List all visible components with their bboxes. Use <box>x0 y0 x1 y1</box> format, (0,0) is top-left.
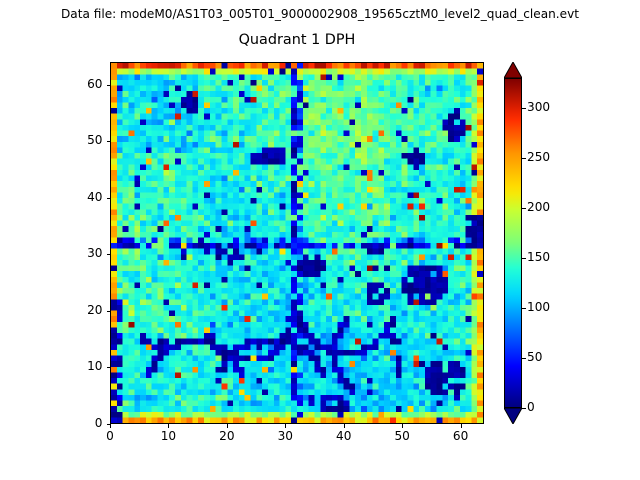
colorbar[interactable] <box>504 62 522 424</box>
colorbar-tick-mark <box>522 108 526 109</box>
colorbar-tick-label: 0 <box>527 401 571 414</box>
y-tick-mark <box>107 141 111 142</box>
colorbar-tick-mark <box>522 258 526 259</box>
x-tick-mark <box>110 424 111 428</box>
colorbar-tick-label: 50 <box>527 351 571 364</box>
data-file-suptitle: Data file: modeM0/AS1T03_005T01_90000029… <box>0 7 640 21</box>
y-tick-mark <box>107 198 111 199</box>
colorbar-extend-min-arrow-icon <box>504 408 522 424</box>
colorbar-tick-label: 150 <box>527 251 571 264</box>
y-tick-label: 30 <box>63 247 103 260</box>
x-tick-label: 50 <box>382 430 422 443</box>
colorbar-gradient <box>504 78 522 408</box>
colorbar-tick-mark <box>522 158 526 159</box>
y-tick-mark <box>107 85 111 86</box>
colorbar-tick-mark <box>522 208 526 209</box>
detector-heatmap-image[interactable] <box>111 63 483 423</box>
y-tick-label: 50 <box>63 134 103 147</box>
colorbar-extend-max-arrow-icon <box>504 62 522 78</box>
x-tick-label: 40 <box>324 430 364 443</box>
matplotlib-figure: Data file: modeM0/AS1T03_005T01_90000029… <box>0 0 640 480</box>
y-tick-mark <box>107 311 111 312</box>
colorbar-tick-mark <box>522 308 526 309</box>
y-tick-mark <box>107 254 111 255</box>
heatmap-axes[interactable] <box>110 62 484 424</box>
colorbar-tick-mark <box>522 358 526 359</box>
colorbar-tick-label: 250 <box>527 151 571 164</box>
colorbar-tick-label: 100 <box>527 301 571 314</box>
x-tick-mark <box>168 424 169 428</box>
x-tick-label: 10 <box>148 430 188 443</box>
x-tick-mark <box>461 424 462 428</box>
page-title: Quadrant 1 DPH <box>110 32 484 49</box>
y-tick-label: 0 <box>63 417 103 430</box>
y-tick-label: 10 <box>63 360 103 373</box>
x-tick-mark <box>227 424 228 428</box>
x-tick-label: 60 <box>441 430 481 443</box>
x-tick-label: 0 <box>90 430 130 443</box>
y-tick-mark <box>107 367 111 368</box>
colorbar-gradient-body[interactable] <box>504 78 522 408</box>
x-tick-label: 20 <box>207 430 247 443</box>
x-tick-label: 30 <box>265 430 305 443</box>
colorbar-tick-label: 200 <box>527 201 571 214</box>
colorbar-tick-label: 300 <box>527 101 571 114</box>
x-tick-mark <box>344 424 345 428</box>
y-tick-label: 40 <box>63 191 103 204</box>
x-tick-mark <box>285 424 286 428</box>
colorbar-tick-mark <box>522 408 526 409</box>
y-tick-mark <box>107 424 111 425</box>
x-tick-mark <box>402 424 403 428</box>
y-tick-label: 60 <box>63 78 103 91</box>
y-tick-label: 20 <box>63 304 103 317</box>
